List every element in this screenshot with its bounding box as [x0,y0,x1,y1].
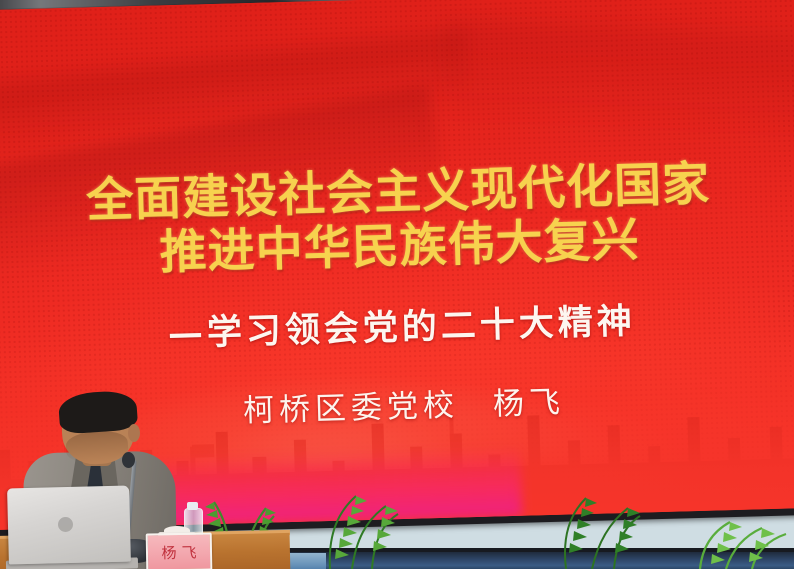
slide-subtitle: —学习领会党的二十大精神 [0,287,794,361]
red-cup-left [62,552,74,569]
slide-text-block: 全面建设社会主义现代化国家 推进中华民族伟大复兴 —学习领会党的二十大精神 柯桥… [0,0,794,530]
screen-panel: 全面建设社会主义现代化国家 推进中华民族伟大复兴 —学习领会党的二十大精神 柯桥… [0,0,794,530]
conference-room-photo: 全面建设社会主义现代化国家 推进中华民族伟大复兴 —学习领会党的二十大精神 柯桥… [0,0,794,569]
presenter-spacer [459,415,493,416]
slide-presenter-line: 柯桥区委党校杨飞 [0,369,794,437]
presenter-name: 杨飞 [492,385,565,423]
glass-panel-reflection [206,553,326,569]
room-lower-strip [200,552,794,569]
laptop-base [6,557,138,569]
red-cup-right [108,552,120,569]
led-display-screen: 全面建设社会主义现代化国家 推进中华民族伟大复兴 —学习领会党的二十大精神 柯桥… [0,0,794,556]
presenter-organization: 柯桥区委党校 [243,387,460,429]
room-baseboard [200,548,794,554]
